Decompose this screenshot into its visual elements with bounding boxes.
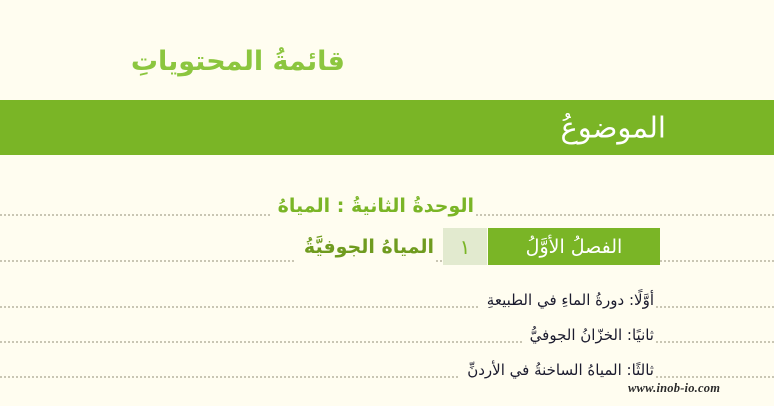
lesson-title-3: ثالثًا: المياهُ الساخنةُ في الأردنِّ <box>460 359 654 382</box>
leader-dots <box>0 305 774 308</box>
lesson-title-1: أوَّلًا: دورةُ الماءِ في الطبيعةِ <box>480 289 654 312</box>
chapter-number-badge: ١ <box>443 228 487 265</box>
toc-page: قائمةُ المحتوياتِ الموضوعُ الوحدةُ الثان… <box>0 0 774 406</box>
chapter-tag-label: الفصلُ الأوَّلُ <box>488 228 660 265</box>
leader-dots <box>0 340 774 343</box>
leader-dots <box>0 375 774 378</box>
chapter-title: المياهُ الجوفيَّةُ <box>296 231 434 263</box>
column-header-label: الموضوعُ <box>560 110 666 144</box>
unit-title: الوحدةُ الثانيةُ : المياهُ <box>270 193 474 220</box>
toc-row-lesson-3[interactable]: ثالثًا: المياهُ الساخنةُ في الأردنِّ <box>0 350 774 382</box>
column-header-band: الموضوعُ <box>0 100 774 155</box>
page-title: قائمةُ المحتوياتِ <box>145 44 345 80</box>
lesson-title-2: ثانيًا: الخزّانُ الجوفيُّ <box>523 324 654 347</box>
toc-row-unit[interactable]: الوحدةُ الثانيةُ : المياهُ <box>0 186 774 220</box>
toc-row-lesson-1[interactable]: أوَّلًا: دورةُ الماءِ في الطبيعةِ <box>0 280 774 312</box>
toc-row-lesson-2[interactable]: ثانيًا: الخزّانُ الجوفيُّ <box>0 315 774 347</box>
toc-row-chapter[interactable]: الفصلُ الأوَّلُ ١ المياهُ الجوفيَّةُ <box>0 228 774 270</box>
site-watermark: www.inob-io.com <box>628 381 720 396</box>
